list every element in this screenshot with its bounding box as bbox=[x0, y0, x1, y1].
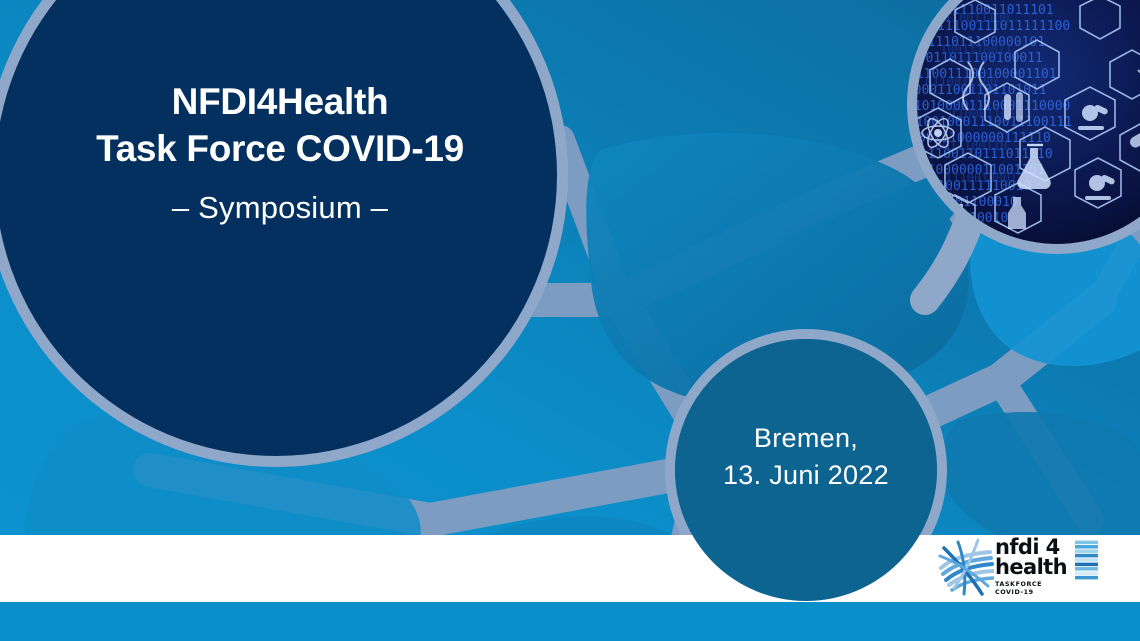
svg-text:1110010001: 1110010001 bbox=[945, 171, 1017, 185]
footer-blue-band bbox=[0, 602, 1140, 641]
event-location: Bremen, bbox=[668, 420, 944, 457]
svg-text:0110011100: 0110011100 bbox=[925, 75, 997, 89]
nfdi4health-bars bbox=[1075, 538, 1098, 582]
svg-text:1001110011: 1001110011 bbox=[940, 43, 1012, 57]
svg-text:0011100110: 0011100110 bbox=[935, 139, 1007, 153]
nfdi4health-network-mark bbox=[938, 538, 994, 596]
symposium-title-slide: 1100111110011011101 01100111001110111111… bbox=[0, 0, 1140, 641]
logo-tagline: TASKFORCE COVID-19 bbox=[995, 580, 1073, 596]
logo-wordmark: nfdi 4 health TASKFORCE COVID-19 bbox=[995, 538, 1073, 595]
event-date-block: Bremen, 13. Juni 2022 bbox=[668, 420, 944, 495]
nfdi4health-logo: nfdi 4 health TASKFORCE COVID-19 bbox=[938, 536, 1098, 598]
event-date: 13. Juni 2022 bbox=[668, 457, 944, 494]
logo-line-2: health bbox=[995, 558, 1067, 578]
svg-text:1100011001: 1100011001 bbox=[950, 107, 1022, 121]
title-circle-group bbox=[0, 0, 568, 467]
binary-science-photo-circle: 1100111110011011101 01100111001110111111… bbox=[898, 0, 1140, 254]
